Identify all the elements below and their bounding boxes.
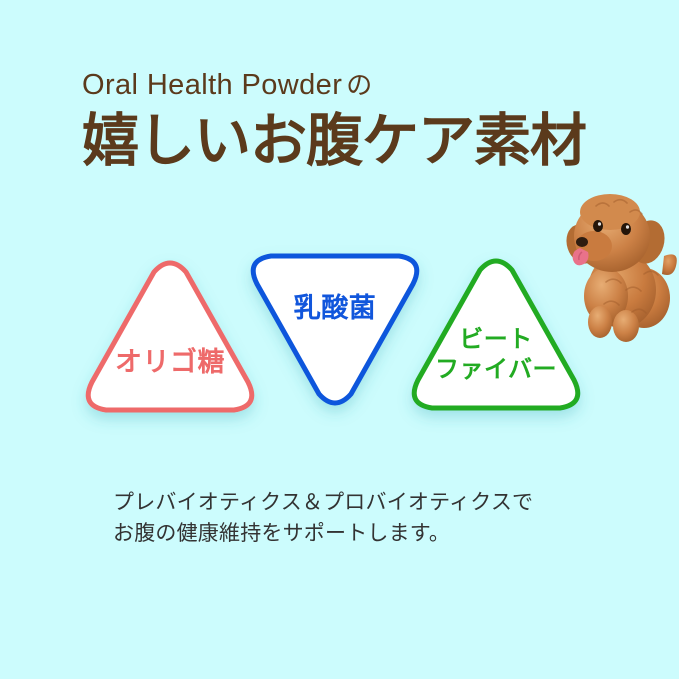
promo-canvas: Oral Health Powderの 嬉しいお腹ケア素材 オリゴ糖 bbox=[0, 0, 679, 679]
toy-poodle-illustration bbox=[556, 186, 679, 346]
headline-block: Oral Health Powderの 嬉しいお腹ケア素材 bbox=[82, 66, 642, 172]
badge-oligosaccharide: オリゴ糖 bbox=[82, 256, 258, 428]
badge-lactic-acid-bacteria: 乳酸菌 bbox=[247, 238, 423, 410]
caption-text: プレバイオティクス＆プロバイオティクスで お腹の健康維持をサポートします。 bbox=[113, 487, 633, 549]
dog-photo bbox=[556, 186, 679, 346]
page-title: 嬉しいお腹ケア素材 bbox=[82, 110, 642, 172]
triangle-up-shape-coral bbox=[82, 256, 258, 428]
product-name: Oral Health Powder bbox=[82, 69, 342, 101]
headline-subtitle: Oral Health Powderの bbox=[82, 66, 642, 104]
triangle-down-shape-blue bbox=[247, 238, 423, 410]
particle-no: の bbox=[342, 70, 372, 100]
